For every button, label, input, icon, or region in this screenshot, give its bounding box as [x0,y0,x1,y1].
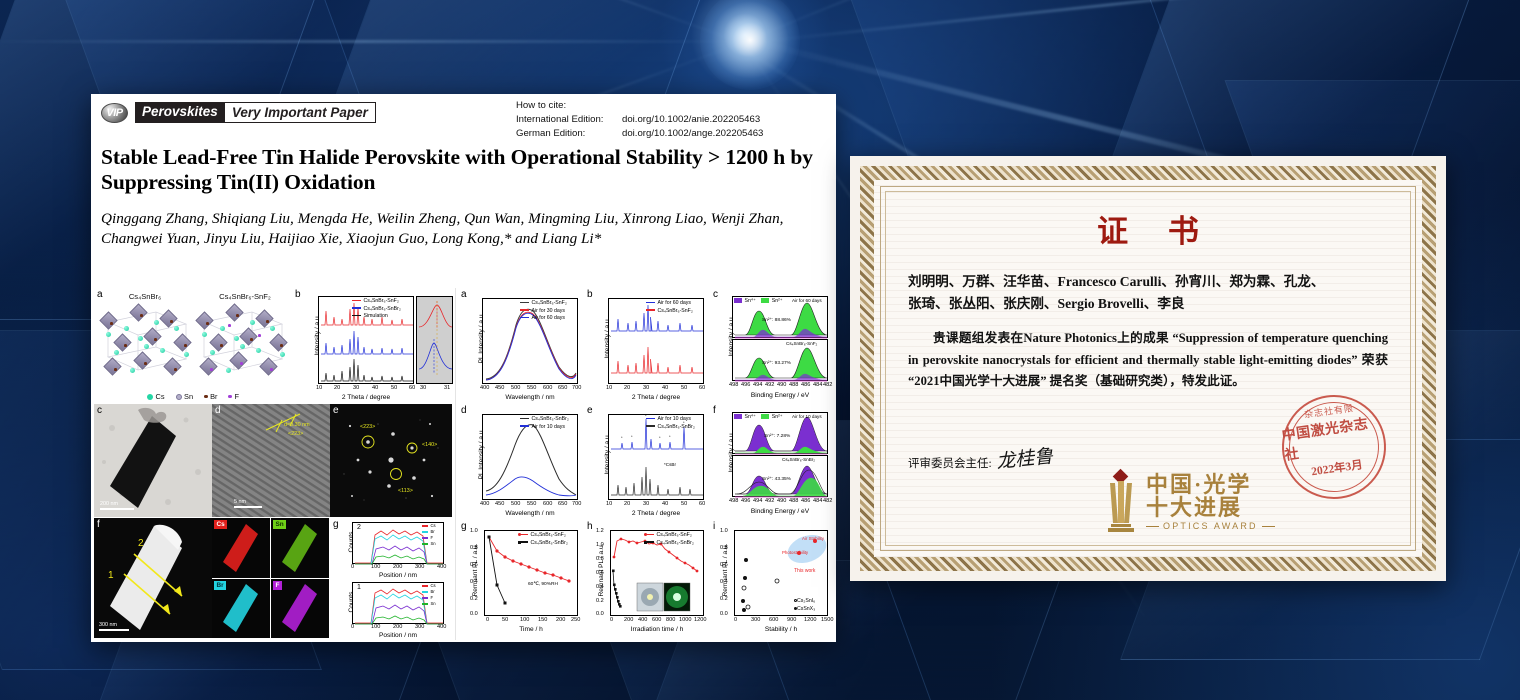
panel-c2-xps-plot: c Sn⁴⁺ Sn²⁺ Air for 60 days Sn²⁺: 88.86% [710,288,834,404]
x-axis-label: Stability / h [734,626,828,633]
legend-label: Cs [431,523,436,528]
y-tick: 0.8 [470,545,478,551]
panel-e2-xrd-plot: e *** *** [584,404,710,520]
eds-element-label: Br [214,581,226,590]
figure-right-column: a Cs₄SnBr₆-SnF₂ Air for 30 days Air for … [455,288,835,640]
panel-i-stability-comparison: i [710,520,834,638]
legend-entry: Cs₄SnBr₆-SnBr₂ [646,424,695,432]
legend-label: Cs₄SnBr₆-SnBr₂ [658,424,695,430]
legend-entry: Cs₄SnBr₆-SnBr₂ [518,540,568,548]
legend-label: Cs₂SnI₆ [797,598,815,604]
photostability-annotation: Photostability [782,550,808,555]
xps-legend-top: Sn⁴⁺ Sn²⁺ [734,298,783,306]
legend-label: Cs [156,392,165,401]
xps2-sn2-percent-bottom: Sn²⁺: 43.35% [762,477,791,482]
x-tick: 1500 [821,617,833,623]
y-tick: 0.4 [470,579,478,585]
legend-label: Air for 60 days [658,300,691,306]
x-tick: 498 [729,382,738,388]
trophy-icon [1104,471,1138,533]
x-tick: 10 [606,385,612,391]
x-tick: 0 [610,617,613,623]
x-tick: 200 [393,624,402,630]
y-tick: 1.0 [720,528,728,534]
x-tick: 400 [480,385,489,391]
thermal-condition: 60℃, 90%RH [528,582,558,587]
legend-label: Sn [431,541,436,546]
hkl-label: <223> [288,431,303,437]
fft-spot-label: <113> [398,488,413,494]
journal-paper-image: VIP Perovskites Very Important Paper How… [91,94,836,642]
legend-entry: Cs₄SnBr₆-SnBr₂ [520,416,569,424]
x-tick: 10 [606,501,612,507]
panel-a2-pl-spectra: a Cs₄SnBr₆-SnF₂ Air for 30 days Air for … [458,288,584,404]
panel-label: e [333,405,339,416]
eds-map-f: F [271,579,329,638]
x-tick: 300 [751,617,760,623]
citation-label: International Edition: [516,113,622,127]
x-tick: 1000 [679,617,691,623]
paper-figure: a Cs₄SnBr₆ Cs₄SnBr₆-SnF₂ [92,288,835,640]
x-tick: 496 [741,498,750,504]
x-tick: 20 [334,385,340,391]
xps-sn2-percent-top: Sn²⁺: 88.86% [762,318,791,323]
xrd3-legend: Air for 10 days Cs₄SnBr₆-SnBr₂ [646,416,695,431]
certificate-title: 证 书 [886,206,1410,251]
y-axis-label: Intensity / a.u. [728,410,735,494]
eds-element-label: F [273,581,282,590]
legend-label: F [234,392,239,401]
x-tick: 50 [681,501,687,507]
y-tick: 1.0 [596,542,604,548]
legend-entry: Air for 60 days [520,315,567,323]
panel-d2-pl-spectra: d Cs₄SnBr₆-SnBr₂ Air for 10 days PL Inte… [458,404,584,520]
x-tick: 0 [486,617,489,623]
legend-label: CsSnX₃ [797,606,815,612]
x-tick: 40 [662,501,668,507]
panel-label: f [713,405,716,416]
profile-sublabel-1: 1 [357,584,361,591]
certificate-signature-block: 评审委员会主任: 龙桂鲁 [908,444,1053,471]
legend-label: Cs₄SnBr₆-SnF₂ [658,308,693,314]
x-tick: 492 [765,498,774,504]
x-tick: 550 [527,385,536,391]
citation-doi: doi.org/10.1002/ange.202205463 [622,127,763,141]
certificate-ornamental-border: 证 书 刘明明、万群、汪华苗、Francesco Carulli、孙宵川、郑为霖… [860,166,1436,571]
x-tick: 494 [753,382,762,388]
award-name-english: OPTICS AWARD [1146,522,1275,531]
panel-label: d [215,405,221,416]
x-tick: 300 [415,624,424,630]
panel-label: a [97,289,103,300]
legend-label: Cs₄SnBr₆-SnF₂ [364,298,399,304]
paper-tagline-tag: Very Important Paper [225,102,376,123]
y-tick: 0.6 [470,562,478,568]
legend-entry: Cs₄SnBr₆-SnBr₂ [644,540,694,548]
panel-label: d [461,405,467,416]
x-tick: 492 [765,382,774,388]
legend-label: Air for 10 days [658,416,691,422]
paper-title: Stable Lead-Free Tin Halide Perovskite w… [101,145,826,196]
y-tick: 0.4 [596,584,604,590]
x-tick: 494 [753,498,762,504]
x-tick: 300 [415,564,424,570]
y-tick: 0.0 [720,611,728,617]
citation-row: International Edition: doi.org/10.1002/a… [516,113,763,127]
recipients-line-2: 张琦、张丛阳、张庆刚、Sergio Brovelli、李良 [908,293,1388,315]
trophy-body-icon [1104,479,1138,533]
x-axis-label: Position / nm [352,572,444,579]
y-tick: 0.0 [470,611,478,617]
legend-label: Cs₄SnBr₆-SnBr₂ [531,540,568,546]
xps-sn2-percent-bottom: Sn²⁺: 93.27% [762,361,791,366]
profile-sublabel-2: 2 [357,524,361,531]
optics-award-logo: 中国·光学 十大进展 OPTICS AWARD [1104,471,1275,533]
d-spacing-label: d=0.30 nm [284,422,310,428]
x-axis-label: 2 Theta / degree [608,510,704,517]
panel-label: f [97,519,100,530]
y-tick: 0.0 [596,611,604,617]
legend-item-cs: Cs [147,392,165,401]
panel-label: b [587,289,593,300]
peak-label: CsBr [666,462,676,467]
panel-label: e [587,405,593,416]
legend-entry: Sn²⁺ [761,414,782,420]
y-axis-label: Intensity / a.u. [314,292,321,378]
thermal-legend: Cs₄SnBr₆-SnF₂ Cs₄SnBr₆-SnBr₂ [518,532,568,547]
legend-item-br: Br [204,392,217,401]
legend-entry: Cs₄SnBr₆-SnF₂ [352,298,401,306]
scale-bar-label: 5 nm [234,499,246,505]
eds-map-sn: Sn [271,518,329,578]
x-tick: 0 [351,564,354,570]
x-tick: 488 [789,498,798,504]
x-axis-label: 2 Theta / degree [318,394,414,401]
legend-entry: Sn⁴⁺ [734,414,756,420]
x-tick: 60 [699,501,705,507]
svg-text:*: * [631,434,633,439]
x-tick: 700 [572,385,581,391]
figure-left-column: a Cs₄SnBr₆ Cs₄SnBr₆-SnF₂ [92,288,455,640]
legend-entry: Cs₄SnBr₆-SnF₂ [644,532,694,540]
svg-text:*: * [659,435,661,440]
legend-entry: Cs₄SnBr₆-SnF₂ [646,308,693,316]
x-tick: 20 [624,385,630,391]
xps2-condition-top: Air for 10 days [792,414,822,419]
legend-item-f: F [228,392,239,401]
profile-legend-top: Cs Br F Sn [422,523,436,547]
x-tick: 482 [823,382,832,388]
x-tick: 30 [643,385,649,391]
official-red-seal: 杂志社有限 中国激光杂志社 2022年3月 [1275,388,1392,505]
scale-bar [100,508,134,511]
x-tick: 700 [572,501,581,507]
inset-x-tick: 31 [444,385,450,391]
x-axis-label: Time / h [484,626,578,633]
crystal-structure-figure: Cs₄SnBr₆ Cs₄SnBr₆-SnF₂ [94,288,292,403]
legend-label: Cs₄SnBr₆-SnF₂ [531,532,566,538]
legend-label: Simulation [364,313,388,319]
x-tick: 498 [729,498,738,504]
panel-a-crystal-structure: a Cs₄SnBr₆ Cs₄SnBr₆-SnF₂ [94,288,292,403]
legend-item-sn: Sn [176,392,194,401]
xrd3-peak-annotation: *CsBr [664,462,676,467]
x-tick: 50 [502,617,508,623]
legend-entry: Sn [422,601,436,607]
panel-h-photostability: h [584,520,710,638]
legend-entry: Sn [422,541,436,547]
x-axis-label: 2 Theta / degree [608,394,704,401]
award-logo-text: 中国·光学 十大进展 OPTICS AWARD [1146,473,1275,532]
x-axis-label: Position / nm [352,632,444,639]
x-tick: 500 [511,501,520,507]
legend-label: Br [431,589,435,594]
eds-element-label: Cs [214,520,227,529]
panel-b-xrd-plot: b [292,288,455,403]
panel-label: g [333,519,339,530]
y-tick: 0.8 [596,556,604,562]
panel-label: b [295,289,301,300]
paper-authors: Qinggang Zhang, Shiqiang Liu, Mengda He,… [101,209,826,250]
certificate-body-text: 贵课题组发表在Nature Photonics上的成果 “Suppression… [908,328,1388,393]
panel-label: h [587,521,593,532]
x-tick: 650 [558,385,567,391]
legend-label: Sn²⁺ [772,414,783,420]
x-tick: 800 [666,617,675,623]
xps-condition-top: Air for 60 days [792,298,822,303]
y-tick: 0.6 [720,562,728,568]
x-tick: 488 [789,382,798,388]
certificate-recipients: 刘明明、万群、汪华苗、Francesco Carulli、孙宵川、郑为霖、孔龙、… [908,271,1388,316]
y-axis-label: Counts [348,522,355,562]
legend-label: Cs₄SnBr₆-SnBr₂ [532,416,569,422]
panel-f-haadf-image: f 1 2 300 nm [94,518,212,638]
line-scan-label-2: 2 [138,538,144,549]
award-certificate-image: 证 书 刘明明、万群、汪华苗、Francesco Carulli、孙宵川、郑为霖… [850,156,1446,581]
legend-entry: Air for 10 days [646,416,695,424]
y-axis-label: Intensity / a.u. [604,296,611,380]
y-axis-label: PL Intensity / a.u. [478,412,485,496]
legend-label: Cs₄SnBr₆-SnBr₂ [364,306,401,312]
panel-c-tem-image: c 200 nm [94,404,212,517]
legend-label: Cs₄SnBr₆-SnF₂ [657,532,692,538]
legend-label: Br [431,529,435,534]
scale-bar-label: 300 nm [99,622,117,628]
y-axis-label: Counts [348,582,355,622]
award-name-line1: 中国·光学 [1146,473,1275,496]
x-tick: 550 [527,501,536,507]
x-tick: 60 [699,385,705,391]
legend-entry: Air for 60 days [646,300,693,308]
y-tick: 0.2 [470,596,478,602]
xps2-sn2-percent-top: Sn²⁺: 7.28% [764,434,790,439]
x-tick: 30 [643,501,649,507]
y-tick: 0.2 [720,596,728,602]
xrd-inset-axes [416,296,453,384]
award-name-line2: 十大进展 [1146,496,1275,519]
x-tick: 40 [372,385,378,391]
legend-entry: Air for 10 days [520,424,569,432]
x-tick: 900 [787,617,796,623]
crystal-legend: Cs Sn Br F [94,392,292,401]
y-tick: 1.0 [470,528,478,534]
x-tick: 496 [741,382,750,388]
x-tick: 20 [624,501,630,507]
vip-icon: VIP [101,103,128,123]
award-english-text: OPTICS AWARD [1163,522,1258,531]
y-tick: 1.2 [596,528,604,534]
legend-label: Cs [431,583,436,588]
y-tick: 0.4 [720,579,728,585]
panel-label: c [713,289,718,300]
x-tick: 200 [556,617,565,623]
citation-doi: doi.org/10.1002/anie.202205463 [622,113,760,127]
legend-label: Sn [431,601,436,606]
x-tick: 400 [437,564,446,570]
legend-entry: Sn²⁺ [761,298,782,304]
y-tick: 0.6 [596,570,604,576]
x-tick: 100 [371,564,380,570]
legend-entry: Sn⁴⁺ [734,298,756,304]
x-axis-label: Binding Energy / eV [732,392,828,399]
panel-label: a [461,289,467,300]
panel-g-thermal-stability: g [458,520,584,638]
svg-text:*: * [669,434,671,439]
x-tick: 1200 [804,617,816,623]
inset-photo [637,583,690,611]
x-tick: 200 [393,564,402,570]
x-tick: 490 [777,498,786,504]
x-axis-label: Wavelength / nm [482,394,578,401]
panel-g-line-profiles: g 2 Cs Br F Sn Counts [330,518,454,638]
x-tick: 484 [813,498,822,504]
panel-b2-xrd-plot: b Air for 60 days Cs₄SnBr₆-SnF₂ [584,288,710,404]
xps2-sample-bottom: Cs₄SnBr₆-SnBr₂ [782,457,815,462]
scale-bar [234,506,262,509]
legend-entry: Cs₂SnI₆ [794,598,815,606]
how-to-cite-block: How to cite: International Edition: doi.… [516,99,763,141]
eds-map-cs: Cs [212,518,270,578]
legend-label: F [431,595,434,600]
x-tick: 30 [353,385,359,391]
x-tick: 490 [777,382,786,388]
scale-bar [99,629,129,632]
x-tick: 50 [681,385,687,391]
panel-d-hrtem-image: d d=0.30 nm <223> [212,404,330,517]
x-tick: 600 [652,617,661,623]
x-tick: 600 [543,501,552,507]
air-stability-annotation: Air Stability [802,536,824,541]
legend-entry: Cs₄SnBr₆-SnF₂ [520,300,567,308]
x-tick: 0 [734,617,737,623]
x-axis-label: Wavelength / nm [482,510,578,517]
paper-category-tag: Perovskites [135,102,225,123]
legend-entry: Simulation [352,313,401,321]
recipients-line-1: 刘明明、万群、汪华苗、Francesco Carulli、孙宵川、郑为霖、孔龙、 [908,271,1388,293]
fft-spot-label: <223> [360,424,375,430]
legend-entry: Cs₄SnBr₆-SnBr₂ [352,306,401,314]
eds-element-label: Sn [273,520,286,529]
y-tick: 0.8 [720,545,728,551]
photo-legend: Cs₄SnBr₆-SnF₂ Cs₄SnBr₆-SnBr₂ [644,532,694,547]
x-tick: 400 [638,617,647,623]
x-tick: 50 [391,385,397,391]
panel-label: g [461,521,467,532]
eds-map-br: Br [212,579,270,638]
x-tick: 100 [520,617,529,623]
citation-label: German Edition: [516,127,622,141]
x-tick: 600 [769,617,778,623]
x-tick: 484 [813,382,822,388]
y-axis-label: Intensity / a.u. [728,294,735,378]
legend-label: Sn⁴⁺ [745,414,756,420]
xrd2-legend: Air for 60 days Cs₄SnBr₆-SnF₂ [646,300,693,315]
legend-label: Air for 10 days [532,424,565,430]
y-axis-label: PL Intensity / a.u. [478,296,485,380]
how-to-cite-heading: How to cite: [516,99,763,113]
signature-label: 评审委员会主任: [908,455,992,471]
legend-label: Br [210,392,217,401]
x-tick: 60 [409,385,415,391]
x-tick: 486 [801,498,810,504]
x-tick: 10 [316,385,322,391]
x-tick: 100 [371,624,380,630]
x-tick: 400 [437,624,446,630]
x-tick: 40 [662,385,668,391]
inset-x-tick: 30 [420,385,426,391]
x-tick: 1200 [694,617,706,623]
panel-label: c [97,405,102,416]
certificate-inner-border: 证 书 刘明明、万群、汪华苗、Francesco Carulli、孙宵川、郑为霖… [880,186,1416,551]
this-work-annotation: This work [794,568,815,574]
legend-label: F [431,535,434,540]
scale-bar-label: 200 nm [100,501,118,507]
legend-label: Sn²⁺ [772,298,783,304]
comparison-legend: Cs₂SnI₆ CsSnX₃ [794,598,815,613]
x-tick: 650 [558,501,567,507]
x-tick: 250 [571,617,580,623]
y-axis-label: Intensity / a.u. [604,412,611,496]
citation-row: German Edition: doi.org/10.1002/ange.202… [516,127,763,141]
certificate-content: 证 书 刘明明、万群、汪华苗、Francesco Carulli、孙宵川、郑为霖… [885,191,1411,546]
x-axis-label: Binding Energy / eV [732,508,828,515]
x-tick: 400 [480,501,489,507]
panel-e-fft-image: e [330,404,452,517]
legend-label: Cs₄SnBr₆-SnBr₂ [657,540,694,546]
legend-entry: Cs₄SnBr₆-SnF₂ [518,532,568,540]
pl-legend: Cs₄SnBr₆-SnF₂ Air for 30 days Air for 60… [520,300,567,323]
xrd-legend: Cs₄SnBr₆-SnF₂ Cs₄SnBr₆-SnBr₂ Simulation [352,298,401,321]
legend-entry: Air for 30 days [520,308,567,316]
line-scan-label-1: 1 [108,570,114,581]
x-tick: 500 [511,385,520,391]
pl2-legend: Cs₄SnBr₆-SnBr₂ Air for 10 days [520,416,569,431]
legend-entry: CsSnX₃ [794,606,815,614]
xps2-legend-top: Sn⁴⁺ Sn²⁺ [734,414,783,422]
legend-label: Sn [184,392,193,401]
x-tick: 200 [624,617,633,623]
legend-label: Air for 60 days [532,315,565,321]
profile-legend-bottom: Cs Br F Sn [422,583,436,607]
panel-f2-xps-plot: f Sn⁴⁺ Sn²⁺ Air for 10 days Sn²⁺: 7.28% [710,404,834,520]
x-tick: 450 [495,385,504,391]
panel-label: i [713,521,715,532]
xps-sample-bottom: Cs₄SnBr₆-SnF₂ [786,341,817,346]
x-tick: 150 [538,617,547,623]
legend-label: Cs₄SnBr₆-SnF₂ [532,300,567,306]
legend-label: Air for 30 days [532,308,565,314]
signature-handwriting: 龙桂鲁 [994,441,1054,474]
